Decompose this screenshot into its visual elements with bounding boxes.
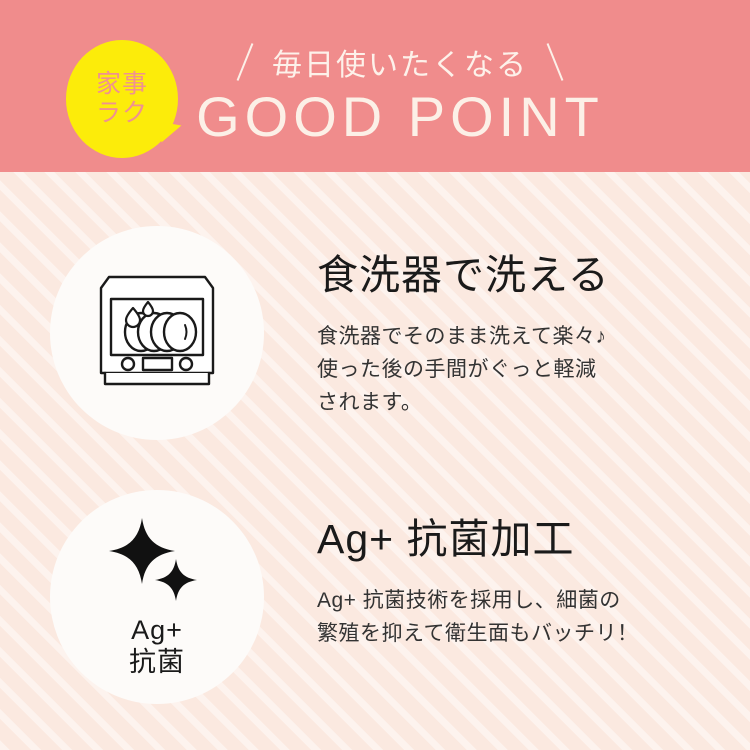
feature-heading-label: 食洗器で洗える [317, 252, 610, 298]
badge-line-1: 家事 [96, 70, 148, 100]
feature-heading: 食洗器で洗える [317, 252, 610, 300]
feature-heading-label: Ag+ 抗菌加工 [317, 516, 574, 562]
feature-icon-circle [50, 226, 264, 440]
badge-text-group: 家事 ラク [66, 40, 178, 158]
feature-body-text: 食洗器でそのまま洗えて楽々♪ 使った後の手間がぐっと軽減 されます。 [317, 320, 717, 419]
header-subtitle-row: 毎日使いたくなる [190, 38, 610, 86]
page-title: GOOD POINT [190, 86, 610, 148]
infographic-page: 家事 ラク 毎日使いたくなる GOOD POINT [0, 0, 750, 750]
badge-line-2: ラク [96, 99, 148, 129]
ag-icon-label: Ag+ 抗菌 [129, 614, 185, 678]
dishwasher-icon [95, 272, 219, 394]
sparkle-stars-icon [104, 516, 208, 604]
feature-text-block: 食洗器で洗える 食洗器でそのまま洗えて楽々♪ 使った後の手間がぐっと軽減 されま… [317, 252, 717, 419]
housework-easy-badge: 家事 ラク [66, 40, 178, 158]
header-banner: 家事 ラク 毎日使いたくなる GOOD POINT [0, 0, 750, 172]
feature-body-text: Ag+ 抗菌技術を採用し、細菌の 繁殖を抑えて衛生面もバッチリ！ [317, 584, 717, 650]
antibacterial-sparkle-icon: Ag+ 抗菌 [50, 490, 264, 704]
feature-text-block: Ag+ 抗菌加工 Ag+ 抗菌技術を採用し、細菌の 繁殖を抑えて衛生面もバッチリ… [317, 516, 717, 650]
feature-heading: Ag+ 抗菌加工 [317, 516, 574, 564]
header-subtitle: 毎日使いたくなる [246, 40, 554, 84]
feature-icon-circle: Ag+ 抗菌 [50, 490, 264, 704]
